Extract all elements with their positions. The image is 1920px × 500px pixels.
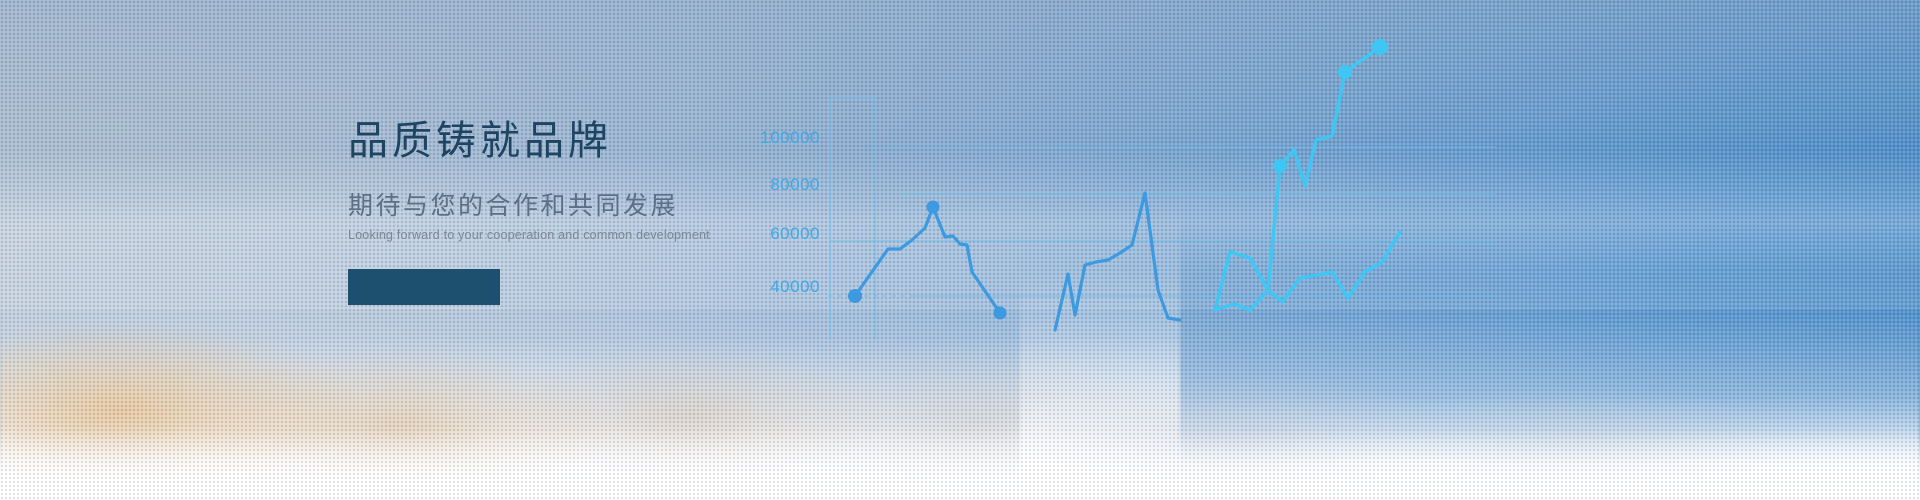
hero-banner: 品质铸就品牌 期待与您的合作和共同发展 Looking forward to y… bbox=[0, 0, 1920, 500]
chart-series-1 bbox=[848, 201, 1007, 320]
data-point-marker bbox=[1273, 159, 1287, 173]
chart-series-4 bbox=[1215, 232, 1400, 310]
chart-series-3 bbox=[1215, 39, 1388, 310]
data-point-marker bbox=[848, 289, 862, 303]
chart-axis-frame bbox=[830, 98, 875, 340]
line-chart: 100000 80000 60000 40000 bbox=[760, 0, 1920, 500]
y-tick-40000: 40000 bbox=[770, 277, 820, 296]
banner-subtitle-en: Looking forward to your cooperation and … bbox=[348, 228, 778, 243]
y-tick-60000: 60000 bbox=[770, 224, 820, 243]
data-point-marker bbox=[1338, 65, 1352, 79]
data-point-marker bbox=[1372, 39, 1388, 55]
banner-copy: 品质铸就品牌 期待与您的合作和共同发展 Looking forward to y… bbox=[348, 118, 778, 305]
chart-series-2 bbox=[1055, 193, 1180, 330]
page-title: 品质铸就品牌 bbox=[348, 118, 778, 165]
data-point-marker bbox=[927, 201, 940, 214]
data-point-marker bbox=[994, 307, 1007, 320]
chart-y-axis-labels: 100000 80000 60000 40000 bbox=[760, 128, 820, 296]
cta-button[interactable] bbox=[348, 269, 500, 305]
y-tick-80000: 80000 bbox=[770, 175, 820, 194]
banner-subtitle-cn: 期待与您的合作和共同发展 bbox=[348, 191, 778, 221]
y-tick-100000: 100000 bbox=[760, 128, 820, 147]
